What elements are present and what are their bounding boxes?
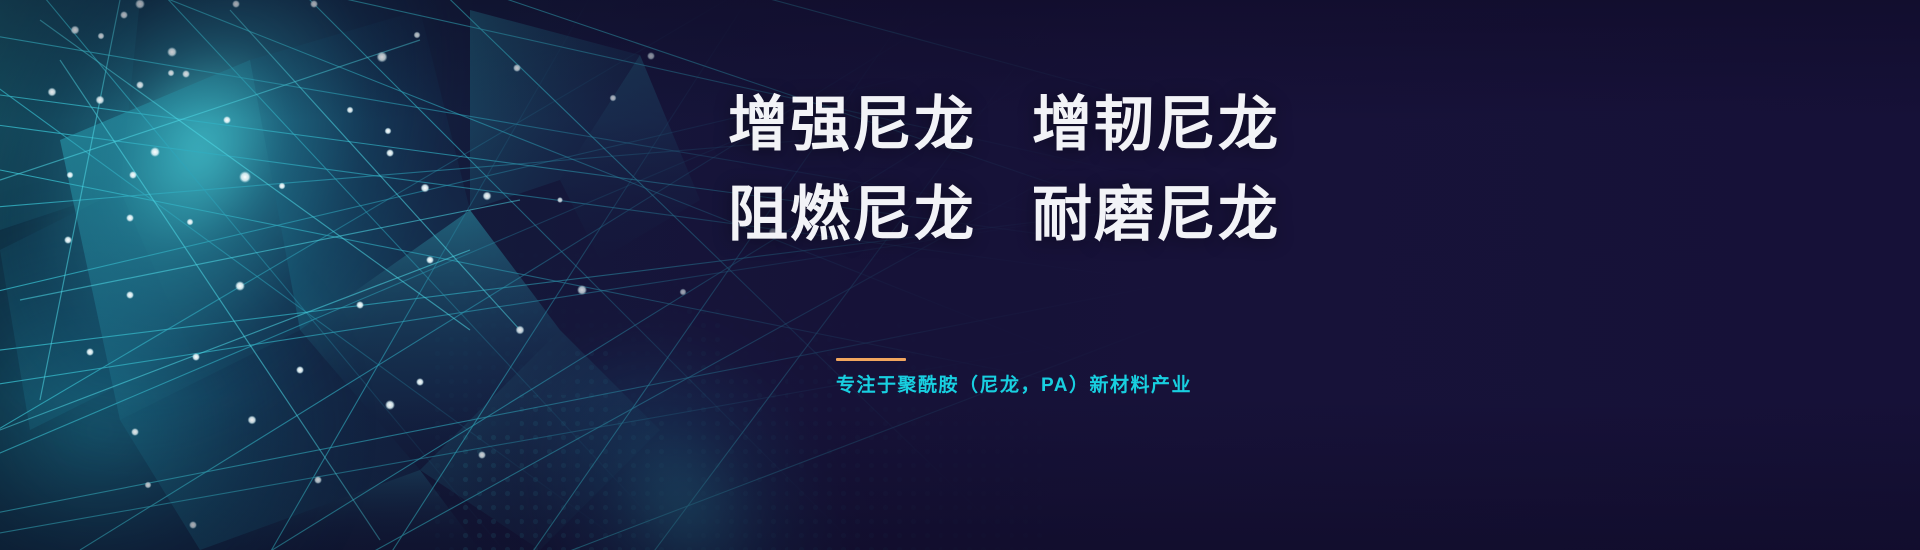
tagline: 专注于聚酰胺（尼龙，PA）新材料产业 [836, 370, 1192, 397]
hero-banner: 增强尼龙 增韧尼龙 阻燃尼龙 耐磨尼龙 专注于聚酰胺（尼龙，PA）新材料产业 [0, 0, 1920, 550]
accent-divider [836, 358, 906, 361]
headline-line-2: 阻燃尼龙 耐磨尼龙 [728, 185, 1280, 245]
headline-line-1: 增强尼龙 增韧尼龙 [728, 95, 1280, 155]
banner-content: 增强尼龙 增韧尼龙 阻燃尼龙 耐磨尼龙 专注于聚酰胺（尼龙，PA）新材料产业 [720, 0, 1620, 550]
